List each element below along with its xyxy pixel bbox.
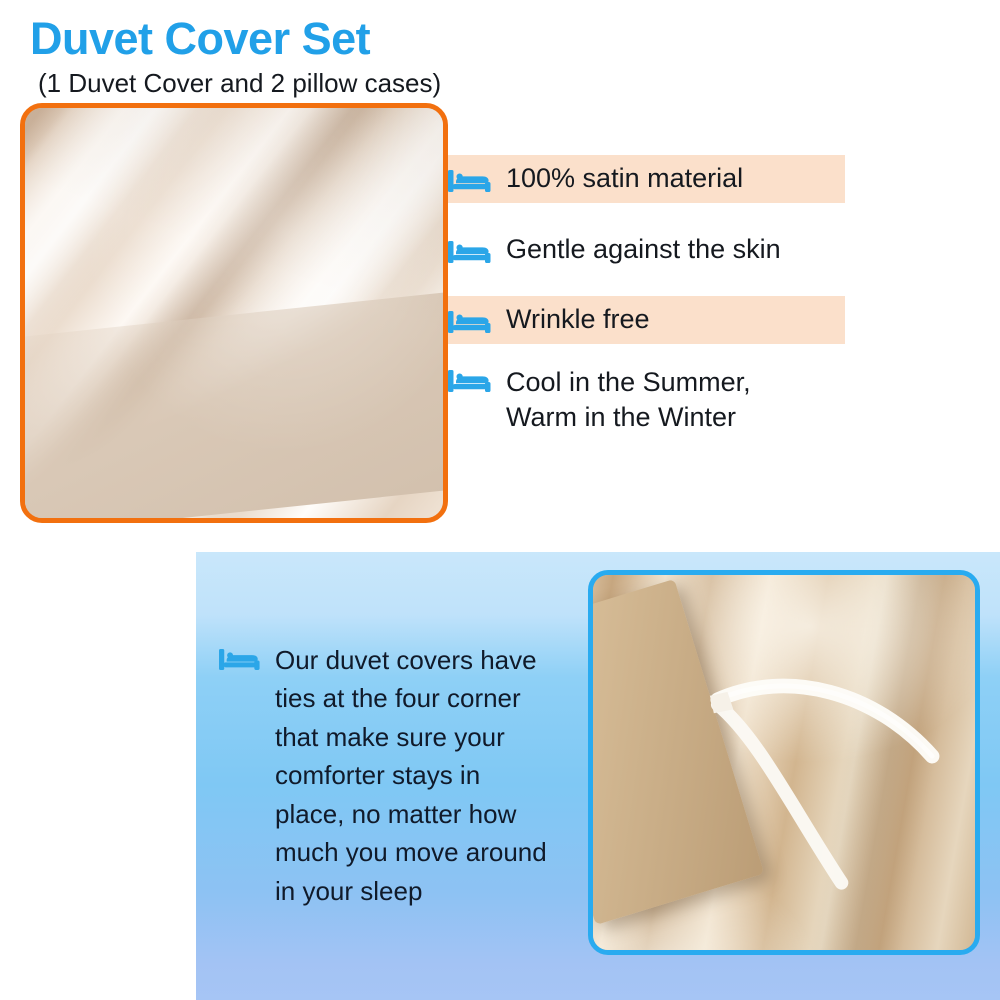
satin-fabric-artwork (25, 108, 443, 518)
satin-fabric-image (20, 103, 448, 523)
infographic-canvas: Duvet Cover Set (1 Duvet Cover and 2 pil… (0, 0, 1000, 1000)
duvet-ties-image (588, 570, 980, 955)
feature-label: Wrinkle free (506, 302, 650, 337)
bed-icon (448, 168, 492, 194)
ties-description-text: Our duvet covers have ties at the four c… (275, 641, 547, 910)
feature-label: Cool in the Summer, Warm in the Winter (506, 365, 751, 435)
ties-description-block: Our duvet covers have ties at the four c… (219, 641, 579, 910)
feature-row-gentle-skin: Gentle against the skin (448, 226, 845, 274)
bed-icon (448, 309, 492, 335)
page-title: Duvet Cover Set (30, 16, 370, 61)
feature-row-wrinkle-free: Wrinkle free (448, 296, 845, 344)
bed-icon (448, 368, 492, 394)
duvet-ties-artwork (593, 575, 975, 950)
white-ribbon-ties (593, 575, 975, 950)
bed-icon (448, 239, 492, 265)
feature-label: Gentle against the skin (506, 232, 781, 267)
feature-row-temperature: Cool in the Summer, Warm in the Winter (448, 365, 845, 447)
feature-row-satin-material: 100% satin material (448, 155, 845, 203)
feature-label: 100% satin material (506, 161, 743, 196)
fabric-vignette (25, 108, 443, 518)
page-subtitle: (1 Duvet Cover and 2 pillow cases) (38, 70, 441, 96)
bed-icon (219, 647, 261, 672)
